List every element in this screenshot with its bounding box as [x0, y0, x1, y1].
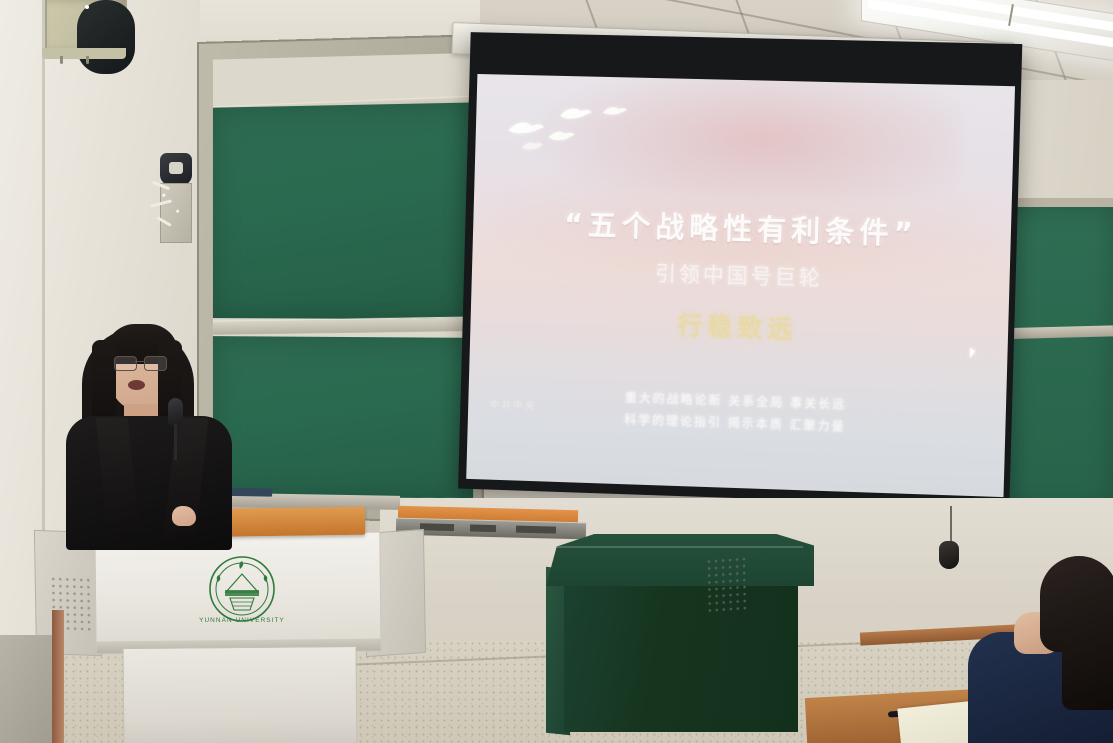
foreground-panel	[0, 635, 52, 743]
slide-footer: 重大的战略论断 关系全局 事关长远 科学的理论指引 揭示本质 汇聚力量	[468, 382, 1007, 443]
projection-screen: “五个战略性有利条件” 引领中国号巨轮 行稳致远 中共中央 重大的战略论断 关系…	[458, 32, 1022, 507]
dove-illustration-group	[501, 95, 717, 190]
cabinet-top	[546, 534, 814, 586]
lecture-hall-scene: MITSUBISHI	[0, 0, 1113, 743]
electrical-box	[45, 0, 127, 54]
audience-member-head-foreground	[1062, 590, 1113, 710]
dove-icon	[547, 128, 577, 143]
slide-canvas: “五个战略性有利条件” 引领中国号巨轮 行稳致远 中共中央 重大的战略论断 关系…	[466, 74, 1015, 497]
speaker-grille-icon	[705, 555, 746, 614]
presenter-hand	[172, 506, 196, 526]
glasses-icon	[114, 356, 168, 369]
mouse-cursor-icon	[970, 348, 975, 358]
wall-corner-edge	[52, 610, 64, 743]
chalkboard-panel-lower	[213, 336, 473, 503]
exposed-wiring	[150, 176, 196, 240]
hanging-cable	[950, 506, 952, 544]
presenter	[62, 318, 242, 548]
cabinet-body	[564, 580, 798, 732]
presenter-blazer	[66, 416, 232, 550]
chalkboard-panel-upper	[213, 102, 473, 319]
equipment-cabinet[interactable]	[546, 534, 814, 734]
electrical-box-shelf	[42, 48, 126, 59]
slide-highlight: 行稳致远	[470, 301, 1008, 353]
dove-icon	[558, 105, 594, 122]
podium-base	[123, 646, 358, 743]
emblem-text: YUNNAN UNIVERSITY	[199, 617, 285, 624]
dove-icon	[601, 103, 629, 117]
microphone-icon	[168, 398, 183, 426]
university-emblem: YUNNAN UNIVERSITY	[196, 552, 288, 626]
dove-icon	[506, 118, 546, 137]
presenter-mouth	[128, 380, 145, 390]
indicator-dot-icon	[85, 5, 89, 9]
chalkboard-inner	[213, 53, 473, 507]
microphone-stem	[174, 424, 177, 460]
dove-icon	[521, 140, 545, 152]
cable-plug-icon	[939, 541, 959, 569]
chalk-rail	[213, 316, 473, 334]
